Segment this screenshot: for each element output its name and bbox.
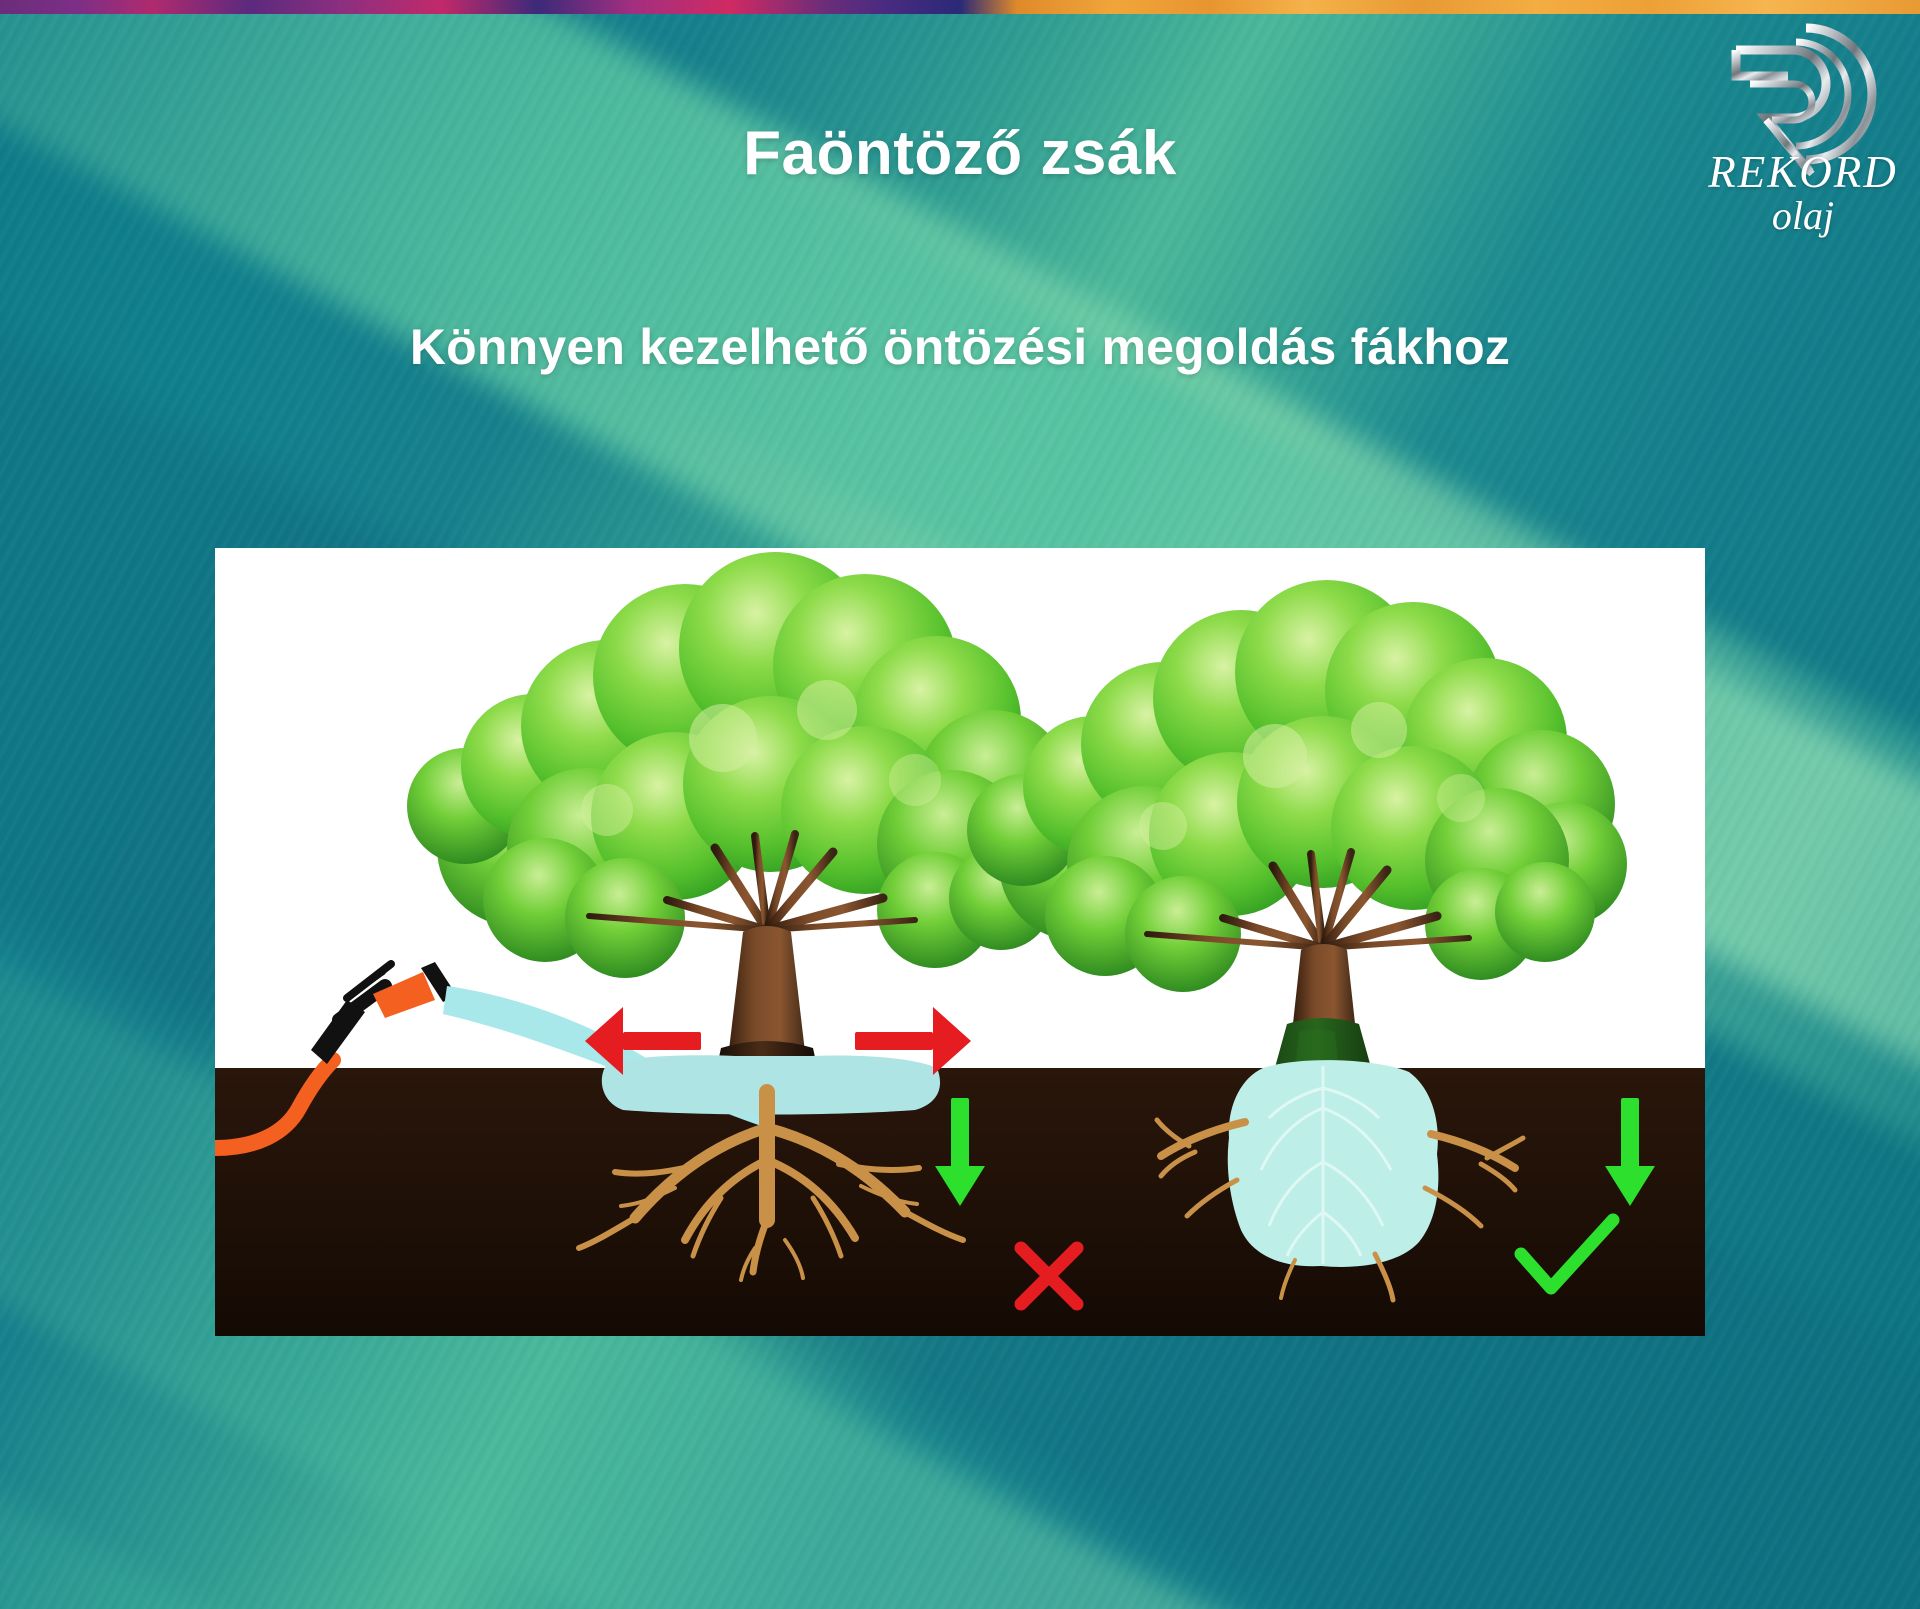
illustration-scene [215,548,1705,1336]
illustration-panel [215,548,1705,1336]
garden-hose [215,1060,333,1148]
down-arrow-right [1605,1098,1655,1206]
down-arrow-left [935,1098,985,1206]
hose-nozzle [373,972,435,1018]
slide-subtitle: Könnyen kezelhető öntözési megoldás fákh… [0,318,1920,376]
slide-root: REKORD olaj Faöntöző zsák Könnyen kezelh… [0,0,1920,1609]
left-tree-roots [579,1092,963,1280]
check-mark-icon [1521,1220,1613,1288]
hose-assembly [215,962,457,1148]
top-color-strip [0,0,1920,14]
cross-mark-icon [1021,1248,1077,1304]
right-tree-foliage [967,580,1627,992]
slide-title: Faöntöző zsák [0,118,1920,189]
right-scene [935,580,1655,1300]
left-tree-foliage [407,552,1085,978]
